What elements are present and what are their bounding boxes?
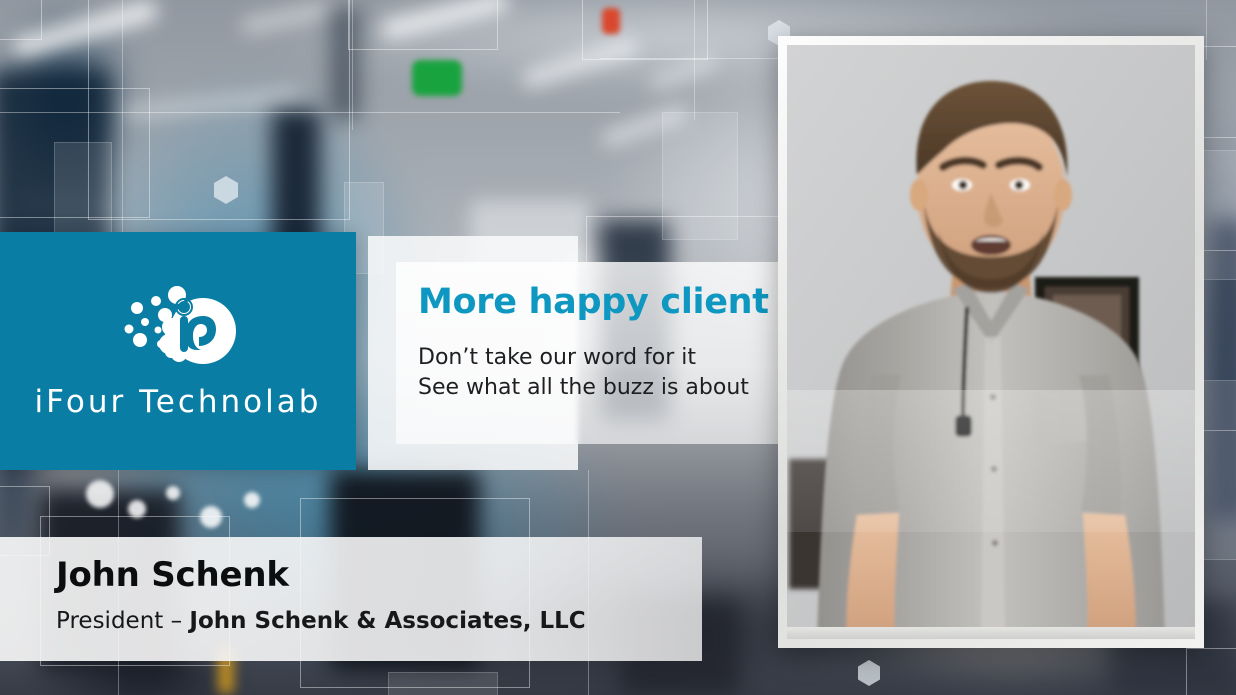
- speaker-name-banner: John Schenk President – John Schenk & As…: [0, 537, 702, 661]
- speaker-name: John Schenk: [56, 557, 702, 594]
- hud-rect: [348, 0, 498, 50]
- hud-rect: [582, 0, 708, 60]
- status-light-green: [412, 60, 462, 96]
- hud-line: [694, 0, 695, 120]
- bokeh-dot: [244, 492, 260, 508]
- brand-wordmark: iFour Technolab: [35, 384, 322, 420]
- hud-line: [352, 0, 353, 130]
- speaker-role-company: John Schenk & Associates, LLC: [189, 608, 585, 634]
- hud-line: [1206, 0, 1207, 60]
- message-panel: More happy client Don’t take our word fo…: [396, 262, 816, 444]
- speaker-role: President – John Schenk & Associates, LL…: [56, 608, 702, 634]
- message-headline: More happy client: [418, 284, 816, 321]
- testimonial-video-frame[interactable]: [778, 36, 1204, 648]
- hud-rect: [0, 0, 42, 40]
- bokeh-dot: [166, 486, 180, 500]
- message-line-1: Don’t take our word for it: [418, 343, 816, 373]
- speaker-role-prefix: President –: [56, 608, 189, 634]
- hud-rect: [1186, 648, 1236, 695]
- ifour-bubble-logo-icon: [115, 282, 241, 378]
- testimonial-video-surface[interactable]: [787, 45, 1195, 639]
- hud-line: [0, 112, 620, 113]
- hud-line: [122, 0, 123, 240]
- bokeh-dot: [86, 480, 114, 508]
- brand-logo-panel: iFour Technolab: [0, 232, 356, 470]
- video-bottom-strip: [787, 627, 1195, 639]
- message-line-2: See what all the buzz is about: [418, 373, 816, 403]
- hud-rect: [54, 142, 112, 234]
- testimonial-slide: iFour Technolab More happy client Don’t …: [0, 0, 1236, 695]
- hud-rect: [388, 672, 498, 695]
